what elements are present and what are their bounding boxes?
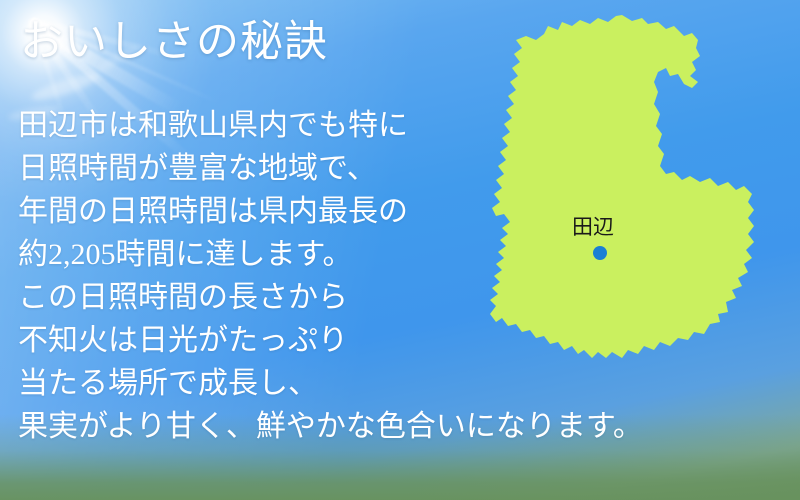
highlighted-phrase: 日照時間は県内最長 xyxy=(108,190,378,233)
body-text-segment: この日照時間の長さから xyxy=(18,281,348,314)
body-text-line: 田辺市は和歌山県内でも特に xyxy=(18,104,488,147)
body-text-line: 果実がより甘く、鮮やかな色合いになります。 xyxy=(18,405,488,448)
body-text-segment: 田辺市は和歌山県内でも特に xyxy=(18,109,408,142)
body-text-segment: 年間の xyxy=(18,195,108,228)
slide-canvas: 田辺 おいしさの秘訣 田辺市は和歌山県内でも特に日照時間が豊富な地域で、年間の日… xyxy=(0,0,800,500)
body-text-segment: になります。 xyxy=(466,410,643,443)
body-text-segment: 不知火は日光がたっぷり xyxy=(18,324,348,357)
map-city-label: 田辺 xyxy=(572,217,614,238)
page-title: おいしさの秘訣 xyxy=(20,18,328,67)
body-text-segment: の xyxy=(378,195,408,228)
wakayama-prefecture-map xyxy=(452,0,800,420)
body-text-line: 当たる場所で成長し、 xyxy=(18,362,488,405)
body-text-segment: 当たる場所で成長し、 xyxy=(18,367,318,400)
body-text-segment: 日照時間が豊富な地域で、 xyxy=(18,152,377,185)
body-text-line: 年間の日照時間は県内最長の xyxy=(18,190,488,233)
body-text-block: 田辺市は和歌山県内でも特に日照時間が豊富な地域で、年間の日照時間は県内最長の約2… xyxy=(18,104,488,448)
body-text-segment: 約2,205時間に達します。 xyxy=(18,238,353,271)
map-city-marker-icon xyxy=(593,246,607,260)
body-text-line: 日照時間が豊富な地域で、 xyxy=(18,147,488,190)
body-text-line: 約2,205時間に達します。 xyxy=(18,233,488,276)
highlighted-phrase: 果実がより甘く、鮮やかな色合い xyxy=(18,405,466,448)
body-text-line: この日照時間の長さから xyxy=(18,276,488,319)
body-text-line: 不知火は日光がたっぷり xyxy=(18,319,488,362)
